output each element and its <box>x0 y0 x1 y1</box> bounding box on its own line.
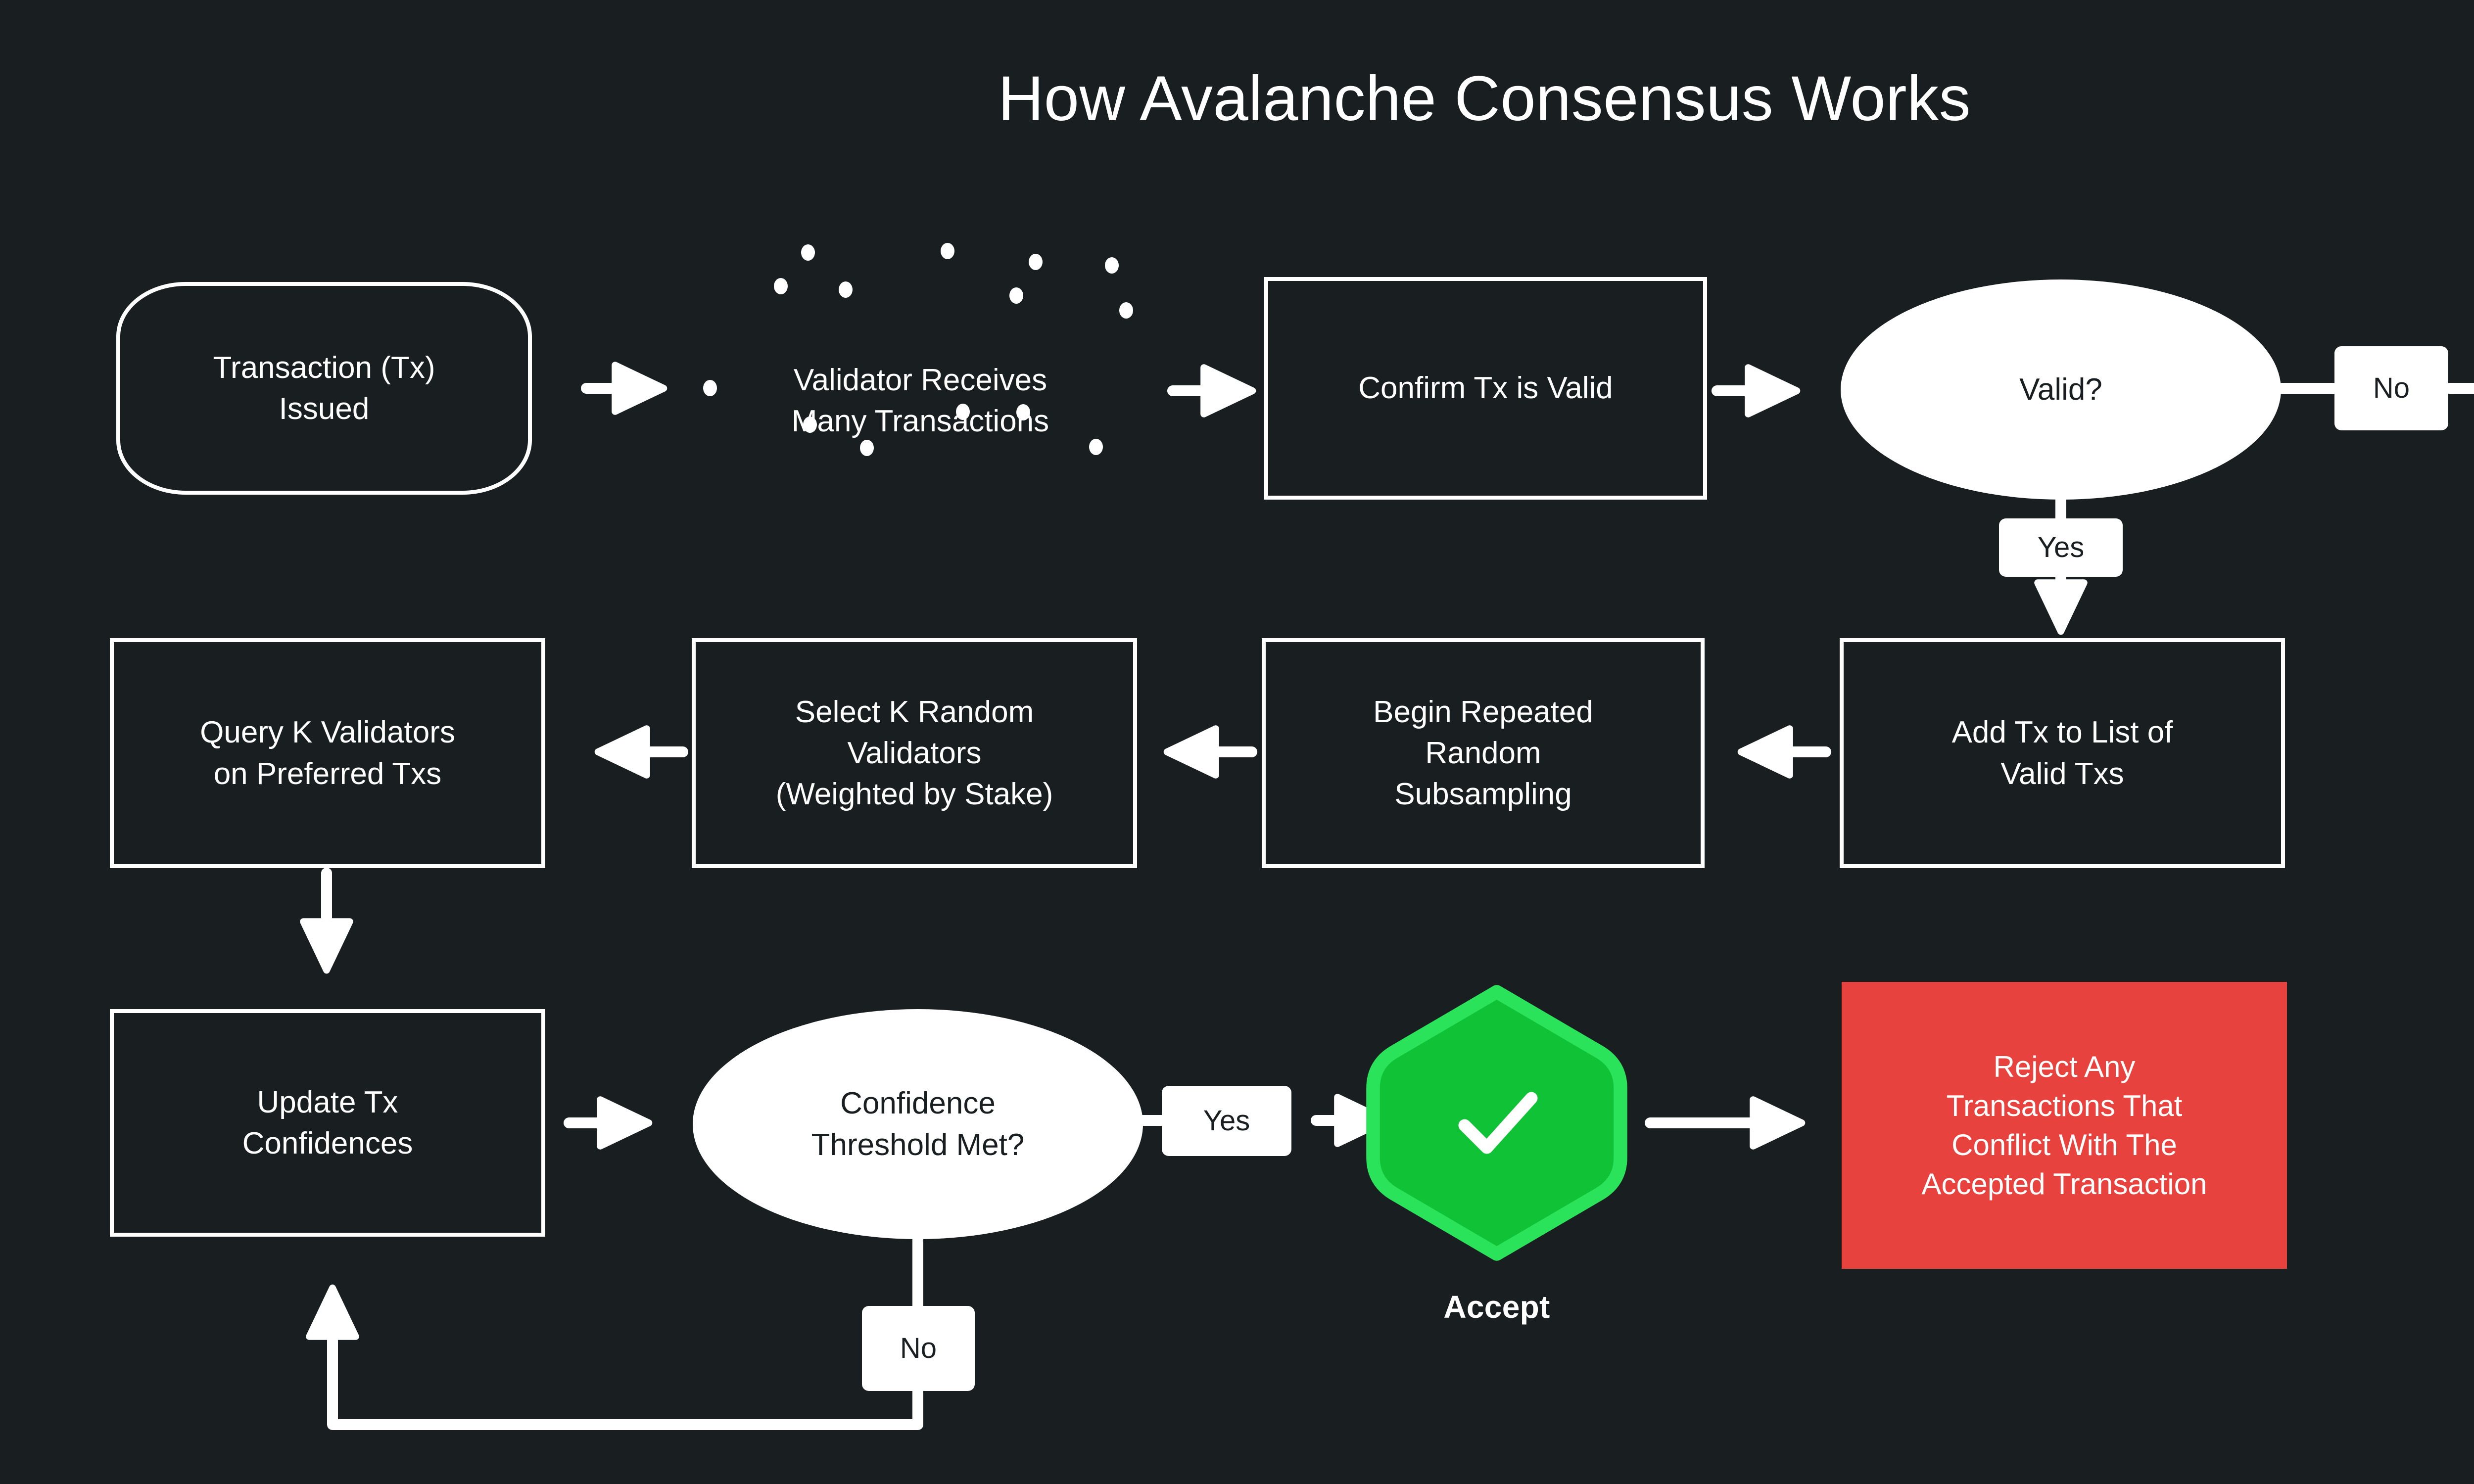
reject-line2: Transactions That <box>1921 1086 2207 1125</box>
transaction-dot <box>801 244 815 261</box>
transaction-dot <box>1016 404 1030 420</box>
transaction-dot <box>1009 287 1023 304</box>
transaction-dot <box>860 440 874 456</box>
add-tx-line1: Add Tx to List of <box>1952 712 2173 753</box>
transaction-dot <box>839 281 853 298</box>
transaction-dot <box>1029 254 1043 270</box>
update-confidences-line2: Confidences <box>242 1123 413 1164</box>
page-title: How Avalanche Consensus Works <box>0 64 2474 134</box>
caption-accept: Accept <box>1363 1289 1630 1325</box>
transaction-dot <box>1105 257 1119 274</box>
valid-decision-label: Valid? <box>2019 369 2102 410</box>
confidence-decision-line2: Threshold Met? <box>811 1124 1025 1165</box>
reject-line4: Accepted Transaction <box>1921 1164 2207 1204</box>
transaction-dot <box>803 417 817 433</box>
subsampling-line2: Random <box>1373 733 1593 774</box>
node-validator-receives[interactable]: Validator Receives Many Transactions <box>683 228 1158 574</box>
validator-receives-line1: Validator Receives <box>683 360 1158 401</box>
check-icon <box>1435 1061 1559 1185</box>
transaction-issued-line2: Issued <box>213 388 435 429</box>
subsampling-line1: Begin Repeated <box>1373 692 1593 733</box>
reject-line3: Conflict With The <box>1921 1125 2207 1164</box>
select-k-line1: Select K Random <box>776 692 1053 733</box>
transaction-dot <box>941 243 954 259</box>
diagram-canvas: How Avalanche Consensus Works <box>0 0 2474 1484</box>
query-k-line1: Query K Validators <box>200 712 455 753</box>
node-begin-subsampling[interactable]: Begin Repeated Random Subsampling <box>1262 638 1705 868</box>
select-k-line2: Validators <box>776 733 1053 774</box>
transaction-dot <box>956 404 970 420</box>
node-valid-decision[interactable]: Valid? <box>1841 279 2281 500</box>
edge-label-confidence-no: No <box>862 1306 975 1391</box>
node-query-k-validators[interactable]: Query K Validators on Preferred Txs <box>110 638 545 868</box>
node-reject-conflicting[interactable]: Reject Any Transactions That Conflict Wi… <box>1842 982 2287 1269</box>
edge-no-loopback <box>333 1294 918 1425</box>
confirm-tx-valid-label: Confirm Tx is Valid <box>1358 368 1613 409</box>
transaction-dot <box>1089 439 1103 455</box>
edge-label-valid-no: No <box>2334 346 2448 430</box>
edge-label-valid-yes-text: Yes <box>2038 533 2085 562</box>
transaction-dot <box>1119 302 1133 319</box>
transaction-issued-line1: Transaction (Tx) <box>213 347 435 388</box>
select-k-line3: (Weighted by Stake) <box>776 774 1053 815</box>
node-select-k-random[interactable]: Select K Random Validators (Weighted by … <box>692 638 1137 868</box>
node-confidence-decision[interactable]: Confidence Threshold Met? <box>693 1009 1143 1239</box>
node-add-tx-valid-list[interactable]: Add Tx to List of Valid Txs <box>1840 638 2285 868</box>
subsampling-line3: Subsampling <box>1373 774 1593 815</box>
update-confidences-line1: Update Tx <box>242 1082 413 1123</box>
edge-label-valid-yes: Yes <box>1999 518 2123 577</box>
confidence-decision-line1: Confidence <box>811 1083 1025 1124</box>
edge-label-confidence-yes-text: Yes <box>1203 1107 1250 1135</box>
add-tx-line2: Valid Txs <box>1952 753 2173 794</box>
transaction-dot <box>774 278 788 294</box>
node-accept[interactable] <box>1363 982 1630 1264</box>
validator-receives-line2: Many Transactions <box>683 401 1158 442</box>
node-update-confidences[interactable]: Update Tx Confidences <box>110 1009 545 1237</box>
query-k-line2: on Preferred Txs <box>200 753 455 794</box>
edge-label-confidence-no-text: No <box>900 1334 937 1363</box>
node-transaction-issued[interactable]: Transaction (Tx) Issued <box>116 282 532 495</box>
edge-label-valid-no-text: No <box>2373 374 2410 403</box>
node-confirm-tx-valid[interactable]: Confirm Tx is Valid <box>1264 277 1707 500</box>
reject-line1: Reject Any <box>1921 1047 2207 1086</box>
edge-label-confidence-yes: Yes <box>1162 1086 1291 1156</box>
transaction-dot <box>703 380 717 396</box>
